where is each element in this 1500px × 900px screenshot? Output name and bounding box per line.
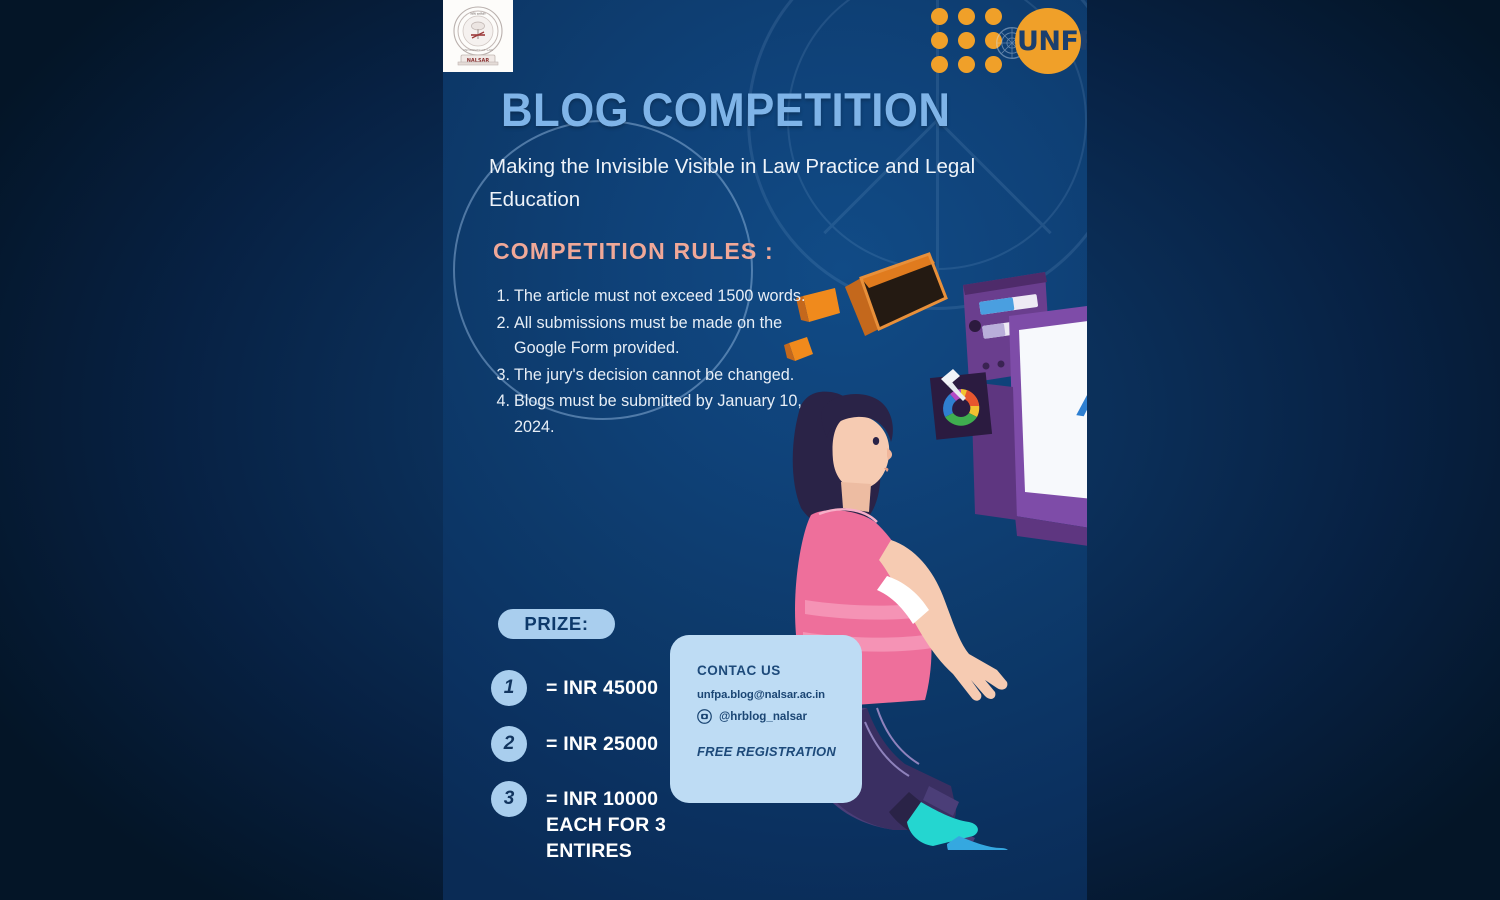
- contact-title: CONTAC US: [697, 663, 862, 678]
- contact-handle: @hrblog_nalsar: [719, 710, 807, 723]
- prize-amount: = INR 10000 EACH FOR 3 ENTIRES: [546, 781, 666, 864]
- prize-label: PRIZE:: [524, 613, 588, 635]
- screenshot-canvas: विधि सर्वोपरि UNIVERSITY OF LAW NALSAR: [0, 0, 1500, 900]
- contact-card: CONTAC US unfpa.blog@nalsar.ac.in @hrblo…: [670, 635, 862, 803]
- free-registration-text: FREE REGISTRATION: [697, 744, 862, 759]
- rule-number: 1.: [495, 284, 514, 310]
- poster-panel: विधि सर्वोपरि UNIVERSITY OF LAW NALSAR: [443, 0, 1087, 900]
- rule-number: 3.: [495, 363, 514, 389]
- prize-rank-badge: 3: [491, 781, 527, 817]
- contact-email[interactable]: unfpa.blog@nalsar.ac.in: [697, 689, 862, 701]
- prize-row-2: 2 = INR 25000: [491, 726, 658, 762]
- rules-list: 1. The article must not exceed 1500 word…: [495, 284, 815, 441]
- contact-handle-row[interactable]: @hrblog_nalsar: [697, 709, 862, 724]
- prize-rank-badge: 1: [491, 670, 527, 706]
- list-item: 2. All submissions must be made on the G…: [495, 311, 815, 362]
- prize-row-1: 1 = INR 45000: [491, 670, 658, 706]
- prize-amount: = INR 45000: [546, 670, 658, 701]
- prize-rank-badge: 2: [491, 726, 527, 762]
- unfpa-wordmark: UNFPA: [1017, 26, 1087, 57]
- list-item: 4. Blogs must be submitted by January 10…: [495, 389, 815, 440]
- rule-text: The article must not exceed 1500 words.: [514, 284, 815, 310]
- color-wheel-icon: [930, 369, 992, 440]
- svg-text:विधि सर्वोपरि: विधि सर्वोपरि: [470, 12, 486, 16]
- rule-text: All submissions must be made on the Goog…: [514, 311, 815, 362]
- prize-label-pill: PRIZE:: [498, 609, 615, 639]
- unfpa-dot-grid-icon: [931, 8, 1003, 72]
- prize-amount: = INR 25000: [546, 726, 658, 757]
- instagram-icon: [697, 709, 712, 724]
- page-subtitle: Making the Invisible Visible in Law Prac…: [489, 150, 1029, 216]
- nalsar-university-emblem-icon: विधि सर्वोपरि UNIVERSITY OF LAW NALSAR: [443, 0, 513, 72]
- svg-text:UNIVERSITY OF LAW: UNIVERSITY OF LAW: [463, 48, 493, 52]
- rule-text: Blogs must be submitted by January 10, 2…: [514, 389, 815, 440]
- rules-heading: COMPETITION RULES :: [493, 238, 774, 265]
- unfpa-logo: UNFPA: [917, 4, 1087, 76]
- rule-number: 2.: [495, 311, 514, 362]
- rule-text: The jury's decision cannot be changed.: [514, 363, 815, 389]
- page-title: BLOG COMPETITION: [501, 82, 950, 137]
- list-item: 3. The jury's decision cannot be changed…: [495, 363, 815, 389]
- rule-number: 4.: [495, 389, 514, 440]
- list-item: 1. The article must not exceed 1500 word…: [495, 284, 815, 310]
- prize-row-3: 3 = INR 10000 EACH FOR 3 ENTIRES: [491, 781, 666, 864]
- floating-cube-large: [845, 254, 946, 336]
